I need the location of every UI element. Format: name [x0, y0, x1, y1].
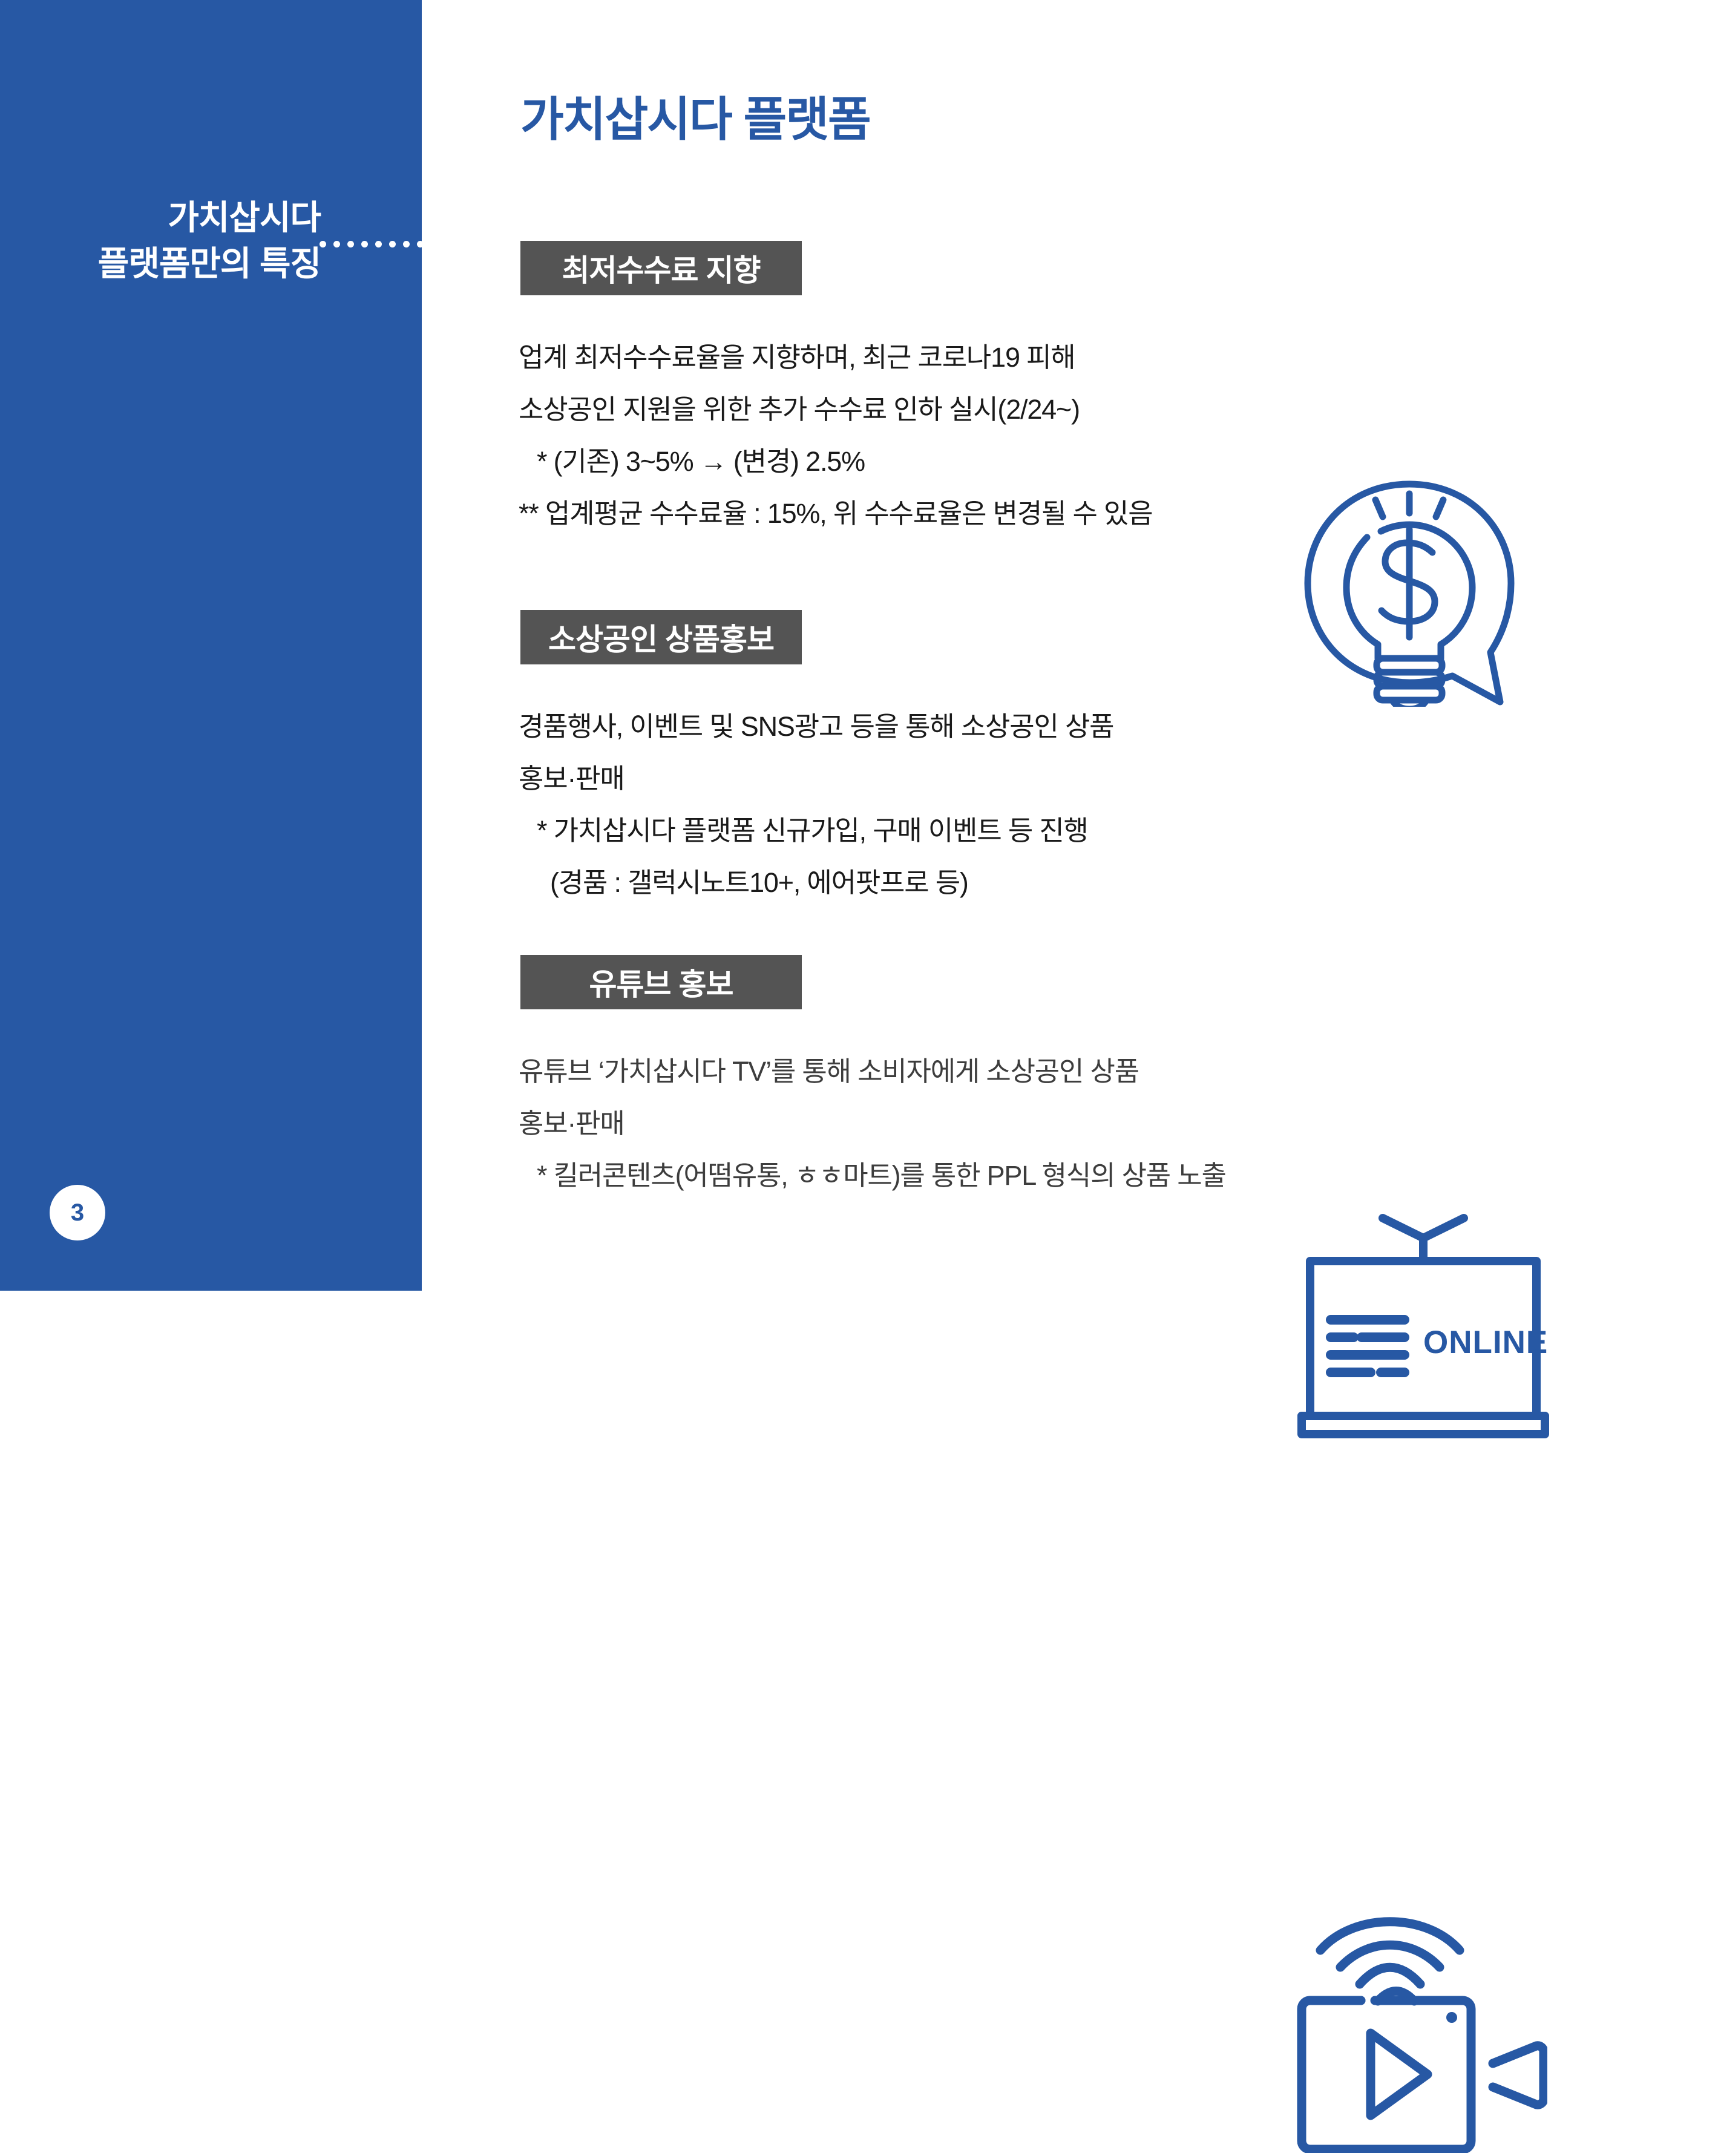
- dot: [389, 241, 396, 247]
- body-line: * 킬러콘텐츠(어떰유통, ㅎㅎ마트)를 통한 PPL 형식의 상품 노출: [519, 1150, 1226, 1202]
- section-badge: 소상공인 상품홍보: [520, 610, 802, 664]
- body-line: 홍보·판매: [519, 1098, 1226, 1150]
- section-badge: 유튜브 홍보: [520, 955, 802, 1009]
- body-line: (경품 : 갤럭시노트10+, 에어팟프로 등): [519, 857, 1113, 909]
- sidebar: 가치삽시다 플랫폼만의 특징 3: [0, 0, 422, 1291]
- page-title: 가치삽시다 플랫폼: [520, 82, 870, 149]
- sidebar-heading-line-1: 가치삽시다: [0, 195, 321, 241]
- video-camera-broadcast-icon: [1293, 1899, 1547, 2156]
- dot: [375, 241, 382, 247]
- body-line: 유튜브 ‘가치삽시다 TV’를 통해 소비자에게 소상공인 상품: [519, 1046, 1226, 1098]
- dot: [361, 241, 368, 247]
- sidebar-heading: 가치삽시다 플랫폼만의 특징: [0, 195, 321, 286]
- dot: [347, 241, 354, 247]
- body-line: * 가치삽시다 플랫폼 신규가입, 구매 이벤트 등 진행: [519, 805, 1113, 857]
- body-line: ** 업계평균 수수료율 : 15%, 위 수수료율은 변경될 수 있음: [519, 488, 1152, 540]
- lightbulb-dollar-speech-bubble-icon: [1300, 465, 1518, 710]
- section-body: 경품행사, 이벤트 및 SNS광고 등을 통해 소상공인 상품 홍보·판매 * …: [519, 701, 1113, 909]
- sidebar-heading-line-2: 플랫폼만의 특징: [0, 241, 321, 287]
- main-content: 가치삽시다 플랫폼 최저수수료 지향 업계 최저수수료율을 지향하며, 최근 코…: [422, 0, 1721, 1291]
- dot: [403, 241, 410, 247]
- section-body: 유튜브 ‘가치삽시다 TV’를 통해 소비자에게 소상공인 상품 홍보·판매 *…: [519, 1046, 1226, 1202]
- body-line: 소상공인 지원을 위한 추가 수수료 인하 실시(2/24~): [519, 384, 1152, 436]
- dot: [320, 241, 326, 247]
- section-body: 업계 최저수수료율을 지향하며, 최근 코로나19 피해 소상공인 지원을 위한…: [519, 332, 1152, 540]
- body-line: 홍보·판매: [519, 753, 1113, 805]
- body-line: * (기존) 3~5% → (변경) 2.5%: [519, 436, 1152, 488]
- dotted-connector: [320, 241, 424, 247]
- dot: [333, 241, 340, 247]
- online-label: ONLINE: [1423, 1325, 1548, 1360]
- online-tv-laptop-icon: ONLINE: [1293, 1203, 1553, 1448]
- body-line: 업계 최저수수료율을 지향하며, 최근 코로나19 피해: [519, 332, 1152, 384]
- page-number-badge: 3: [50, 1185, 105, 1240]
- section-badge: 최저수수료 지향: [520, 241, 802, 295]
- body-line: 경품행사, 이벤트 및 SNS광고 등을 통해 소상공인 상품: [519, 701, 1113, 753]
